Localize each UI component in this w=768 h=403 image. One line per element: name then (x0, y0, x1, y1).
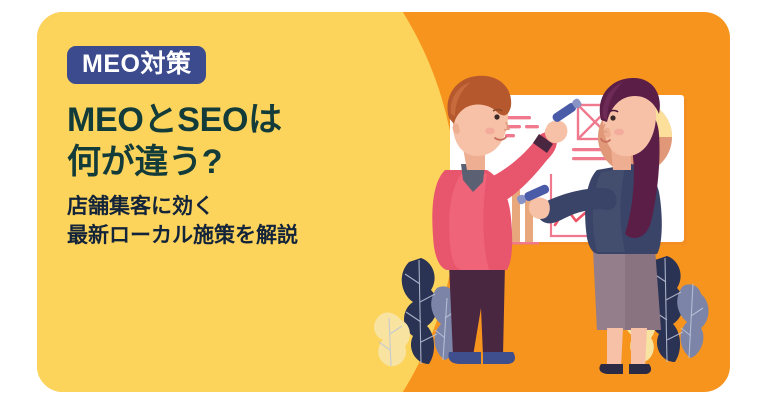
page-title-line1: MEOとSEOは (67, 101, 282, 139)
page-subtitle: 店舗集客に効く 最新ローカル施策を解説 (67, 192, 397, 251)
hero-illustration (357, 12, 730, 392)
plant-cluster-left (374, 258, 462, 366)
page-title: MEOとSEOは 何が違う? (67, 99, 397, 183)
hero-card: MEO対策 MEOとSEOは 何が違う? 店舗集客に効く 最新ローカル施策を解説 (37, 12, 730, 392)
screenshot-stage: MEO対策 MEOとSEOは 何が違う? 店舗集客に効く 最新ローカル施策を解説 (0, 0, 768, 403)
page-subtitle-line1: 店舗集客に効く (67, 195, 214, 218)
page-subtitle-line2: 最新ローカル施策を解説 (67, 221, 397, 250)
page-title-line2: 何が違う? (67, 141, 397, 183)
hero-text-block: MEO対策 MEOとSEOは 何が違う? 店舗集客に効く 最新ローカル施策を解説 (67, 46, 397, 250)
category-badge: MEO対策 (67, 46, 206, 84)
